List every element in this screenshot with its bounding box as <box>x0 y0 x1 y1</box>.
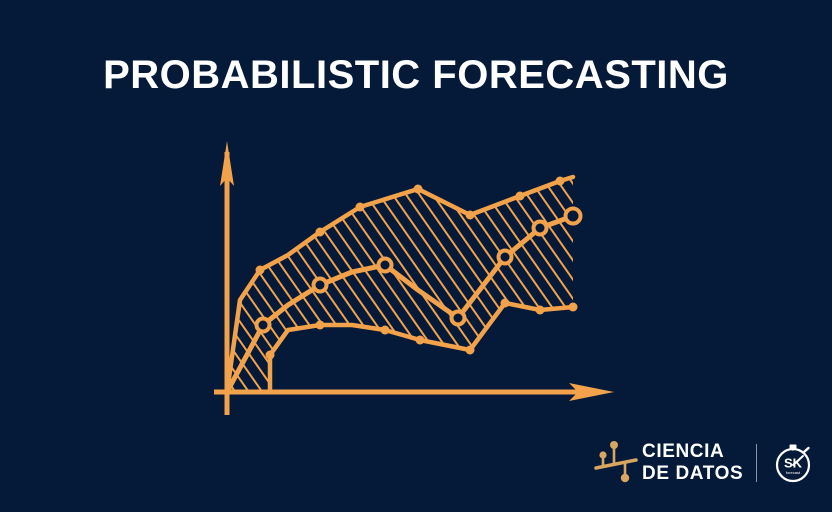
uncertainty-band <box>227 177 573 392</box>
balance-scale-icon <box>592 437 640 489</box>
data-point <box>416 336 425 345</box>
data-point <box>534 222 547 235</box>
data-point <box>379 259 392 272</box>
sk-mark-text: SK <box>784 456 803 471</box>
data-point <box>316 228 325 237</box>
data-point <box>381 326 390 335</box>
x-axis <box>214 383 614 401</box>
brand-wordmark: CIENCIA DE DATOS <box>642 441 743 485</box>
data-point <box>466 346 475 355</box>
data-point <box>501 299 510 308</box>
stopwatch-icon: SK forecast <box>770 440 816 486</box>
data-point <box>466 211 475 220</box>
data-point <box>452 312 465 325</box>
data-point <box>566 209 581 224</box>
data-point <box>356 203 365 212</box>
data-point <box>316 321 325 330</box>
data-point <box>556 177 565 186</box>
brand-logo: CIENCIA DE DATOS SK forecast <box>592 432 792 494</box>
brand-line-2: DE DATOS <box>642 463 743 485</box>
sk-mark-subtext: forecast <box>786 470 801 475</box>
data-point <box>499 251 512 264</box>
data-point <box>314 279 327 292</box>
brand-line-1: CIENCIA <box>642 441 743 463</box>
data-point <box>414 185 423 194</box>
data-point <box>569 303 578 312</box>
data-point <box>536 306 545 315</box>
poster-canvas: PROBABILISTIC FORECASTING <box>0 0 832 512</box>
data-point <box>257 319 270 332</box>
data-point <box>266 351 275 360</box>
data-point <box>256 266 265 275</box>
data-point <box>516 192 525 201</box>
logo-divider <box>756 444 757 482</box>
